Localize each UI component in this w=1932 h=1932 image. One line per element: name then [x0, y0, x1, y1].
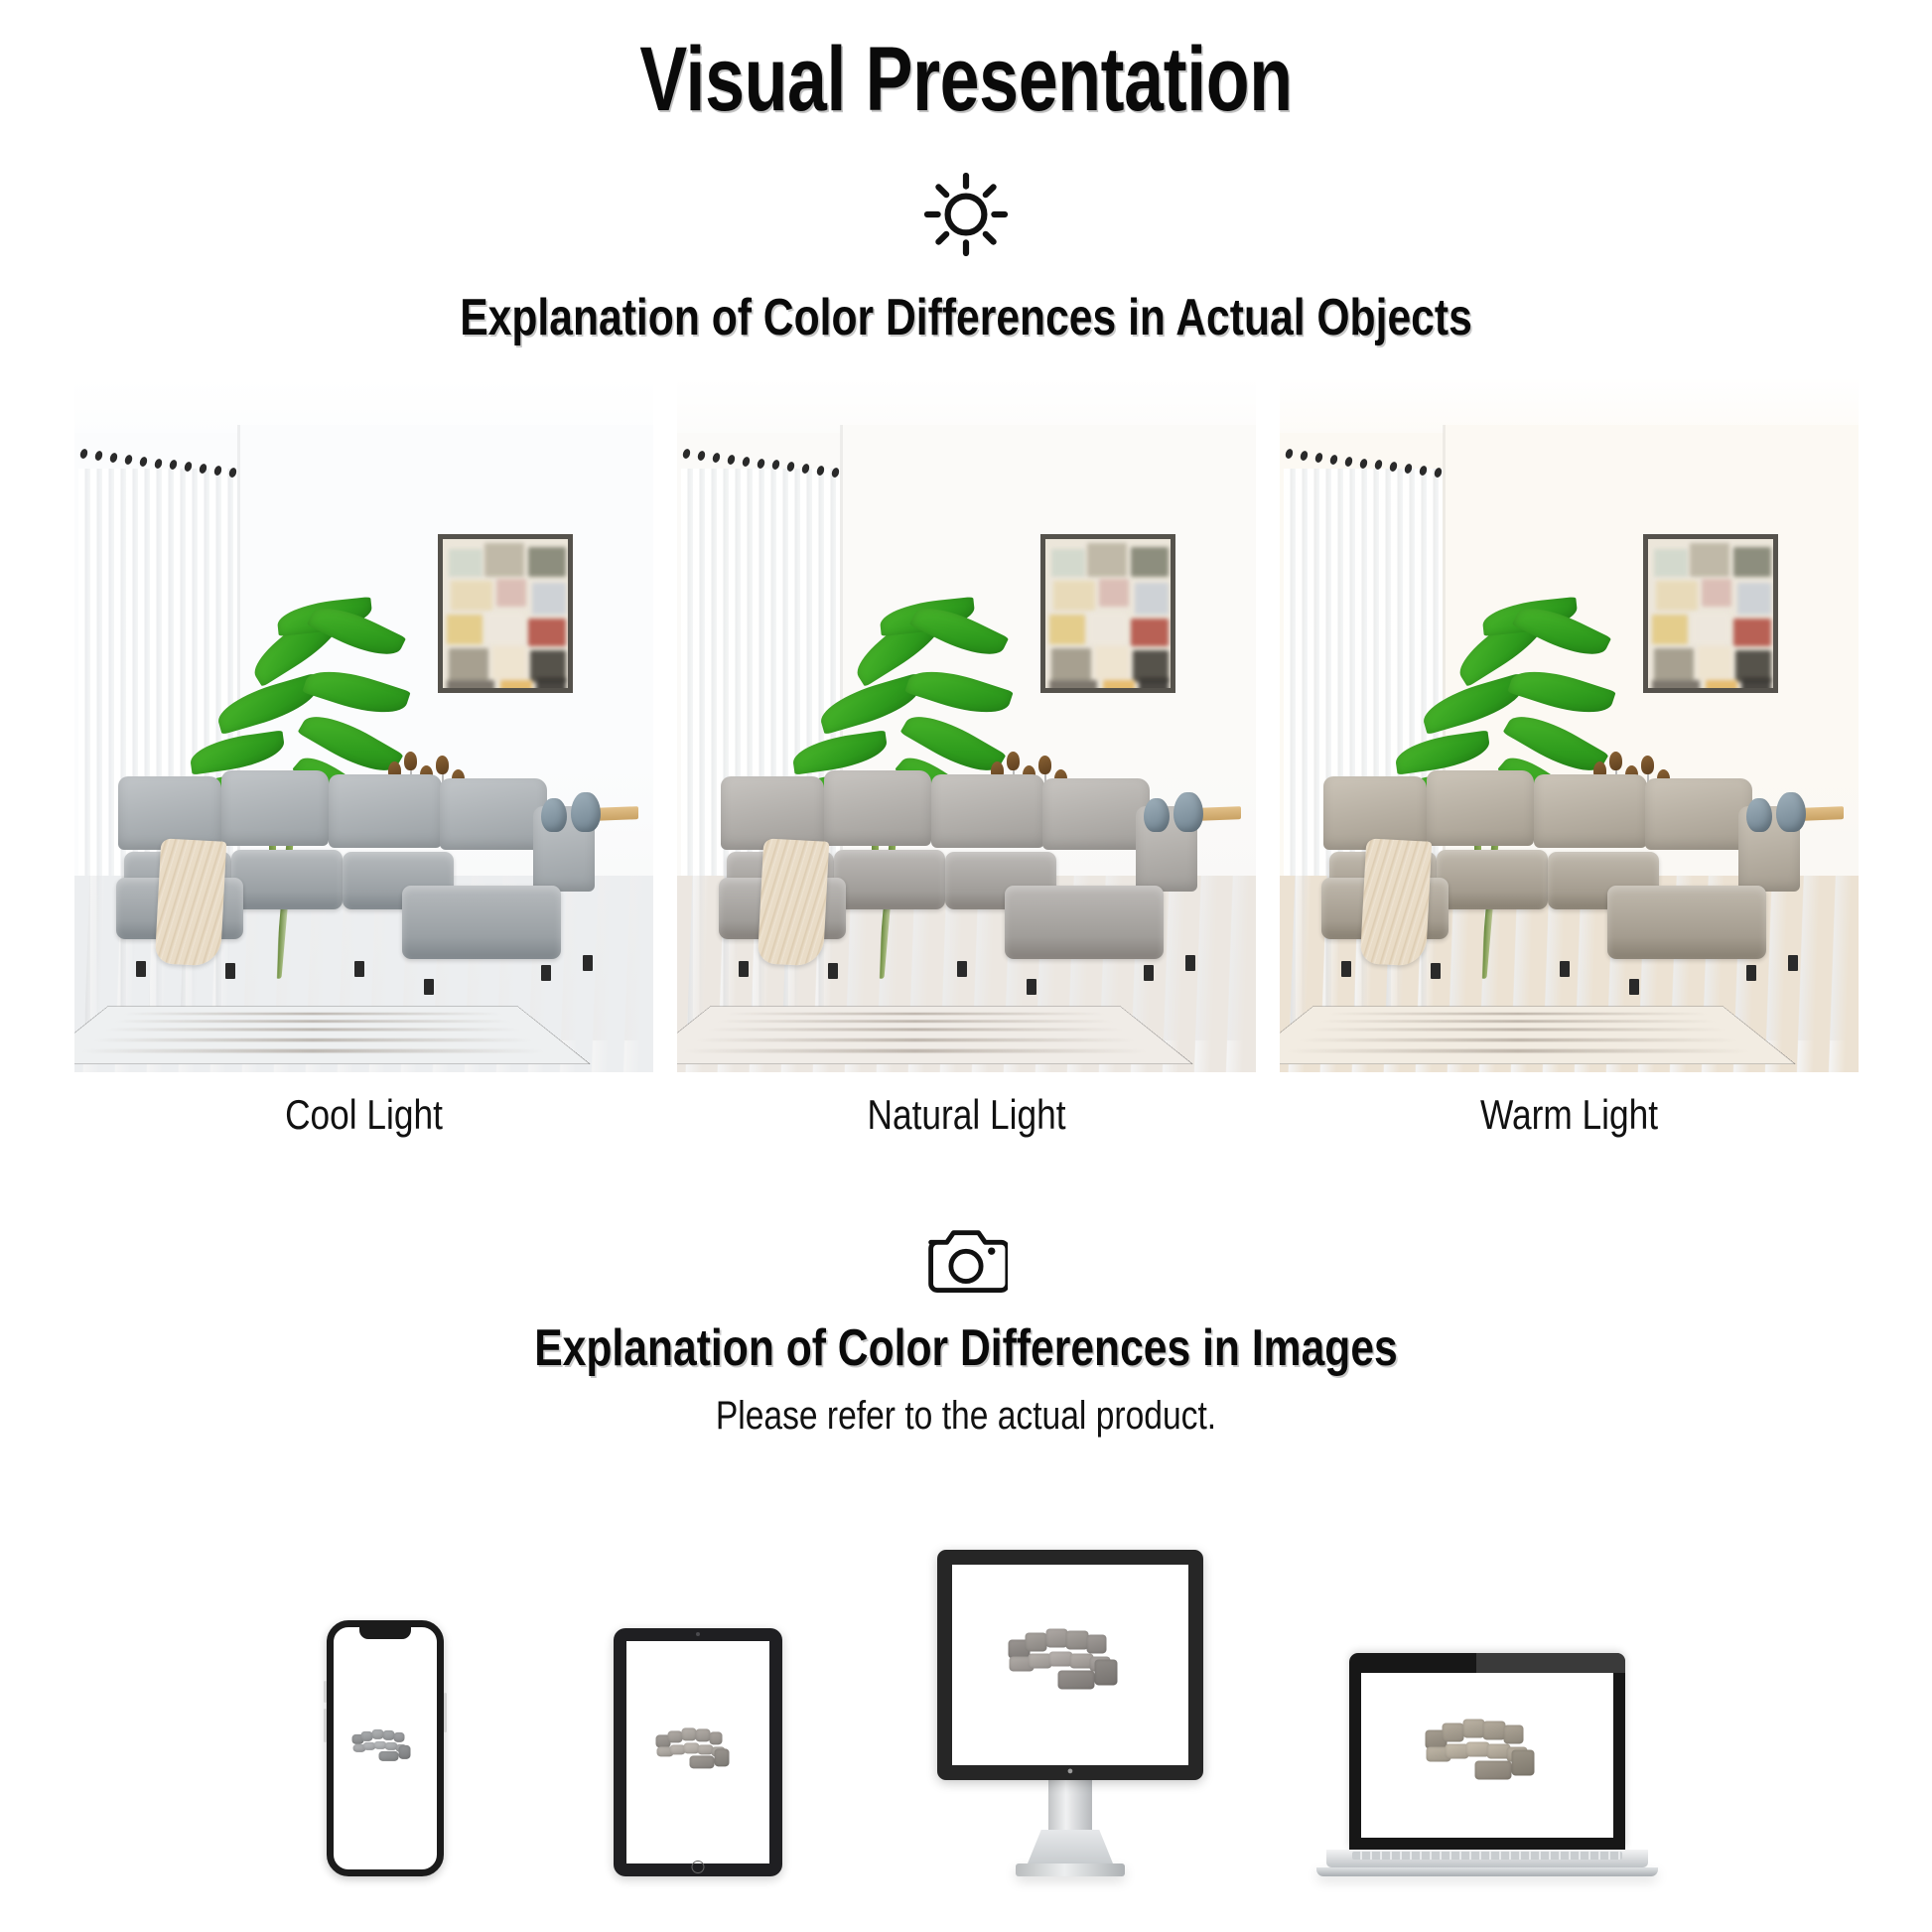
- art-brushstroke: [528, 619, 566, 646]
- sofa-leg: [1560, 961, 1570, 977]
- room-label-warm-light: Warm Light: [1325, 1094, 1812, 1136]
- room-panel-natural-light[interactable]: Natural Light: [677, 377, 1256, 1136]
- art-brushstroke: [1135, 583, 1169, 615]
- sofa-seat-cushion: [834, 850, 945, 909]
- art-brushstroke: [451, 581, 492, 611]
- product-sofa-module: [1025, 1632, 1046, 1651]
- tablet-screen-product-image: [655, 1725, 742, 1778]
- art-brushstroke: [486, 613, 524, 644]
- sofa-leg: [828, 963, 838, 979]
- rug-pattern: [114, 1020, 510, 1023]
- room-label-natural-light: Natural Light: [723, 1094, 1209, 1136]
- room-photo-row: Cool Light Natural Light: [0, 377, 1932, 1136]
- art-brushstroke: [528, 547, 566, 577]
- curtain-ring: [108, 452, 118, 464]
- art-brushstroke: [1737, 583, 1771, 615]
- device-smartphone-wrapper[interactable]: [236, 1620, 534, 1876]
- art-brushstroke: [1131, 619, 1169, 646]
- decor-vase: [1173, 792, 1203, 832]
- decor-vase: [571, 792, 601, 832]
- device-laptop-wrapper[interactable]: [1279, 1653, 1696, 1876]
- sofa-back-cushion: [329, 774, 442, 848]
- product-sofa-module: [1483, 1722, 1505, 1740]
- art-brushstroke: [1131, 547, 1169, 577]
- art-brushstroke: [1053, 581, 1095, 611]
- sun-icon-wrapper: [0, 167, 1932, 262]
- art-brushstroke: [500, 680, 532, 693]
- sofa-leg: [1431, 963, 1441, 979]
- sofa-seat-cushion: [1607, 886, 1766, 959]
- page-title: Visual Presentation: [212, 0, 1720, 125]
- rug-pattern: [717, 1020, 1113, 1023]
- sofa-back-cushion: [931, 774, 1044, 848]
- art-brushstroke: [447, 615, 483, 644]
- rug-pattern: [708, 1028, 1122, 1031]
- monitor-stand-base: [1016, 1863, 1125, 1876]
- device-monitor[interactable]: ●: [937, 1550, 1203, 1876]
- art-brushstroke: [1706, 680, 1737, 693]
- phone-volume-button[interactable]: [324, 1709, 327, 1742]
- area-rug: [74, 1007, 591, 1064]
- sun-icon: [918, 167, 1014, 262]
- product-sofa-module: [715, 1749, 730, 1766]
- sofa-back-cushion: [1427, 770, 1534, 846]
- product-sofa-module: [394, 1731, 405, 1741]
- product-sofa-module: [1045, 1629, 1067, 1648]
- art-brushstroke: [1089, 613, 1127, 644]
- laptop-screen[interactable]: [1349, 1653, 1625, 1850]
- phone-screen-product-image: [351, 1727, 420, 1769]
- framed-abstract-art: [1040, 534, 1175, 693]
- curtain-ring: [741, 456, 751, 468]
- art-brushstroke: [1654, 549, 1688, 577]
- curtain-ring: [681, 448, 691, 460]
- art-brushstroke: [1652, 680, 1700, 693]
- sofa-back-cushion: [1042, 778, 1150, 850]
- throw-blanket: [154, 838, 226, 966]
- phone-power-button[interactable]: [444, 1693, 447, 1732]
- product-sofa-module: [1512, 1750, 1534, 1776]
- art-brushstroke: [1698, 646, 1731, 680]
- device-monitor-wrapper[interactable]: ●: [862, 1550, 1279, 1876]
- art-brushstroke: [532, 583, 566, 615]
- product-sofa-module: [1095, 1660, 1117, 1686]
- curtain-ring: [1299, 450, 1309, 462]
- curtain-rail: [677, 447, 851, 473]
- curtain-rail: [74, 447, 248, 473]
- sofa-leg: [354, 961, 364, 977]
- product-sofa-module: [1462, 1720, 1484, 1738]
- laptop-keyboard-icon: [1352, 1852, 1622, 1860]
- tablet-home-button[interactable]: [692, 1861, 705, 1873]
- decor-vase: [541, 798, 567, 832]
- curtain-ring: [785, 461, 795, 473]
- sofa-seat-cushion: [1005, 886, 1164, 959]
- curtain-ring: [1313, 452, 1323, 464]
- art-brushstroke: [1051, 648, 1091, 682]
- curtain-ring: [1284, 448, 1294, 460]
- product-sofa-module: [1057, 1670, 1095, 1689]
- phone-volume-button[interactable]: [324, 1681, 327, 1703]
- room-label-cool-light: Cool Light: [120, 1094, 607, 1136]
- product-sofa-module: [695, 1729, 710, 1742]
- art-brushstroke: [536, 678, 566, 693]
- product-sofa-module: [378, 1751, 398, 1761]
- decor-vase: [1776, 792, 1806, 832]
- device-mockup-row: ●: [0, 1479, 1932, 1876]
- curtain-ring: [78, 448, 88, 460]
- product-sofa-module: [1503, 1725, 1524, 1743]
- art-brushstroke: [1692, 613, 1729, 644]
- sofa-leg: [957, 961, 967, 977]
- art-brushstroke: [1095, 646, 1129, 680]
- framed-abstract-art: [438, 534, 573, 693]
- monitor-screen[interactable]: ●: [937, 1550, 1203, 1780]
- laptop-bezel-strip: [1476, 1653, 1625, 1673]
- curtain-ring: [153, 458, 163, 470]
- sofa-leg: [1027, 979, 1036, 995]
- monitor-screen-product-image: [1007, 1625, 1135, 1704]
- art-brushstroke: [447, 680, 494, 693]
- art-brushstroke: [496, 579, 526, 607]
- art-brushstroke: [1087, 543, 1127, 577]
- art-brushstroke: [1049, 615, 1085, 644]
- curtain-ring: [1373, 460, 1383, 472]
- tablet-camera-icon: [696, 1632, 700, 1636]
- art-brushstroke: [1733, 547, 1771, 577]
- art-brushstroke: [1049, 680, 1097, 693]
- art-brushstroke: [1654, 648, 1694, 682]
- sofa-leg: [1788, 955, 1798, 971]
- device-tablet-wrapper[interactable]: [534, 1628, 862, 1876]
- art-brushstroke: [449, 648, 488, 682]
- sofa-seat-cushion: [402, 886, 561, 959]
- sofa-leg: [136, 961, 146, 977]
- art-brushstroke: [484, 543, 524, 577]
- art-brushstroke: [1139, 678, 1169, 693]
- rug-pattern: [81, 1049, 544, 1053]
- sofa-leg: [424, 979, 434, 995]
- section-subtitle-refer-product: Please refer to the actual product.: [155, 1396, 1778, 1436]
- art-brushstroke: [449, 549, 483, 577]
- sectional-sofa: [1280, 766, 1859, 1015]
- sectional-sofa: [74, 766, 653, 1015]
- curtain-ring: [711, 452, 721, 464]
- laptop-screen-product-image: [1424, 1716, 1552, 1794]
- sofa-leg: [541, 965, 551, 981]
- art-brushstroke: [1741, 678, 1771, 693]
- product-sofa-module: [667, 1730, 682, 1743]
- art-brushstroke: [1051, 549, 1085, 577]
- room-panel-cool-light[interactable]: Cool Light: [74, 377, 653, 1136]
- section-heading-images: Explanation of Color Differences in Imag…: [174, 1322, 1758, 1374]
- curtain-ring: [770, 460, 780, 472]
- rug-pattern: [105, 1028, 519, 1031]
- art-brushstroke: [1690, 543, 1729, 577]
- curtain-ring: [93, 450, 103, 462]
- sofa-leg: [225, 963, 235, 979]
- laptop-keyboard-deck[interactable]: [1326, 1850, 1648, 1867]
- curtain-ring: [138, 456, 148, 468]
- rug-pattern: [684, 1049, 1147, 1053]
- room-panel-warm-light[interactable]: Warm Light: [1280, 377, 1859, 1136]
- sofa-leg: [1144, 965, 1154, 981]
- phone-notch: [359, 1626, 411, 1639]
- camera-icon-wrapper: [0, 1223, 1932, 1297]
- sofa-back-cushion: [1645, 778, 1752, 850]
- sofa-leg: [1341, 961, 1351, 977]
- curtain-ring: [696, 450, 706, 462]
- art-brushstroke: [1103, 680, 1135, 693]
- product-sofa-module: [681, 1728, 696, 1741]
- art-brushstroke: [1099, 579, 1129, 607]
- curtain-ring: [1358, 458, 1368, 470]
- curtain-ring: [183, 461, 193, 473]
- product-sofa-module: [1066, 1631, 1088, 1650]
- curtain-ring: [1343, 456, 1353, 468]
- device-tablet[interactable]: [614, 1628, 782, 1876]
- sofa-seat-cushion: [231, 850, 343, 909]
- sofa-back-cushion: [1534, 774, 1647, 848]
- sofa-leg: [1746, 965, 1756, 981]
- decor-vase: [1144, 798, 1170, 832]
- art-brushstroke: [492, 646, 526, 680]
- section-heading-actual-objects: Explanation of Color Differences in Actu…: [174, 292, 1758, 344]
- product-sofa-module: [689, 1755, 715, 1768]
- rug-pattern: [696, 1038, 1134, 1041]
- product-sofa-module: [1442, 1723, 1463, 1741]
- sectional-sofa: [677, 766, 1256, 1015]
- camera-icon: [924, 1223, 1008, 1297]
- curtain-rail: [1280, 447, 1453, 473]
- rug-pattern: [93, 1038, 531, 1041]
- product-sofa-module: [1086, 1634, 1107, 1653]
- room-photo-natural-light[interactable]: [677, 377, 1256, 1072]
- throw-blanket: [1359, 838, 1432, 966]
- curtain-ring: [1388, 461, 1398, 473]
- sofa-leg: [583, 955, 593, 971]
- curtain-ring: [726, 454, 736, 466]
- room-photo-warm-light[interactable]: [1280, 377, 1859, 1072]
- device-laptop[interactable]: [1316, 1653, 1658, 1876]
- curtain-ring: [168, 460, 178, 472]
- monitor-stand-neck: [1048, 1780, 1092, 1830]
- device-smartphone[interactable]: [327, 1620, 444, 1876]
- art-brushstroke: [1652, 615, 1688, 644]
- art-brushstroke: [1733, 619, 1771, 646]
- curtain-ring: [123, 454, 133, 466]
- sofa-leg: [739, 961, 749, 977]
- art-brushstroke: [1656, 581, 1698, 611]
- sofa-leg: [1185, 955, 1195, 971]
- laptop-base: [1316, 1867, 1658, 1876]
- sofa-leg: [1629, 979, 1639, 995]
- product-sofa-module: [709, 1731, 723, 1744]
- art-brushstroke: [1702, 579, 1731, 607]
- sofa-seat-cushion: [1437, 850, 1548, 909]
- room-photo-cool-light[interactable]: [74, 377, 653, 1072]
- monitor-stand-foot: [1028, 1830, 1113, 1863]
- product-sofa-module: [398, 1745, 410, 1759]
- sofa-back-cushion: [221, 770, 329, 846]
- curtain-ring: [1328, 454, 1338, 466]
- sofa-back-cushion: [440, 778, 547, 850]
- framed-abstract-art: [1643, 534, 1778, 693]
- product-sofa-module: [1474, 1760, 1512, 1779]
- sofa-back-cushion: [824, 770, 931, 846]
- monitor-brand-logo-icon: ●: [1067, 1765, 1074, 1777]
- decor-vase: [1746, 798, 1772, 832]
- curtain-ring: [756, 458, 765, 470]
- throw-blanket: [757, 838, 829, 966]
